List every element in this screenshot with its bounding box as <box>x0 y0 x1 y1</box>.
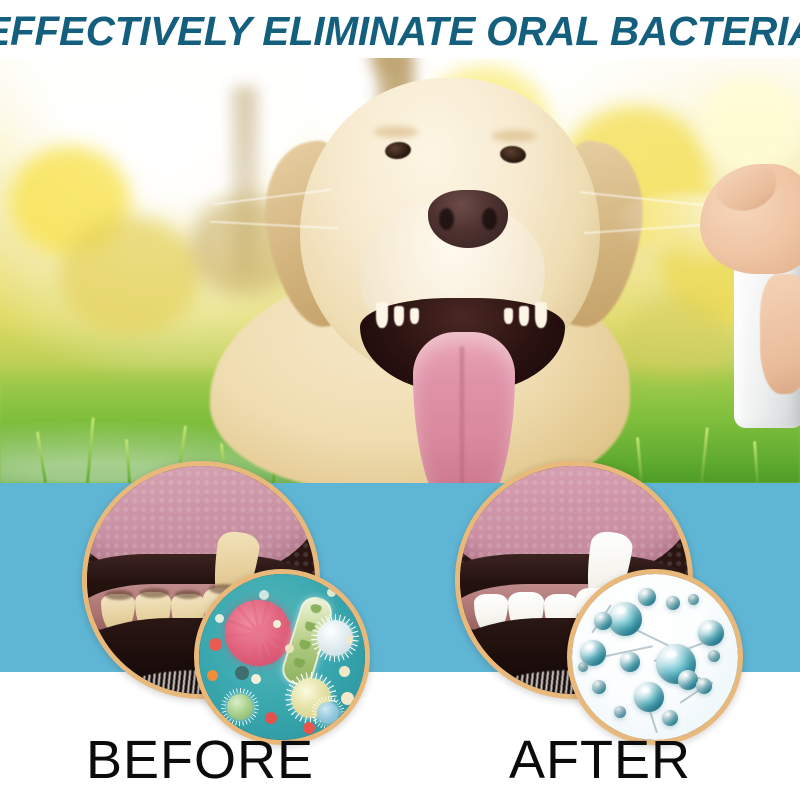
bokeh-spot <box>120 86 210 171</box>
caption-before: BEFORE <box>0 733 400 787</box>
microbe <box>259 590 269 600</box>
molecule-atom <box>678 670 698 690</box>
hero-photo <box>0 46 800 483</box>
molecule-atom <box>578 662 588 672</box>
microbe <box>215 614 224 623</box>
molecule-atom <box>608 602 642 636</box>
microbe <box>235 666 249 680</box>
molecule-atom <box>614 706 626 718</box>
microbe <box>345 636 353 644</box>
bokeh-spot <box>60 216 200 336</box>
molecule-atom <box>594 612 612 630</box>
microbe <box>207 670 218 681</box>
microbe <box>339 666 350 677</box>
microbe <box>327 588 336 597</box>
page-title: EFFECTIVELY ELIMINATE ORAL BACTERIA <box>0 11 800 52</box>
thumb <box>760 274 800 394</box>
molecule-atom <box>638 588 656 606</box>
microbe <box>341 692 354 705</box>
corona-virus-green <box>227 694 253 720</box>
before-bacteria-inset <box>194 569 370 745</box>
molecule-atom <box>662 710 678 726</box>
product-poster: BEFORE AFTER EFFECTIVELY ELIMINATE ORAL … <box>0 0 800 800</box>
microbe <box>265 712 277 724</box>
headline-bar: EFFECTIVELY ELIMINATE ORAL BACTERIA <box>0 0 800 58</box>
dog-brow-right <box>492 130 536 142</box>
bokeh-spot <box>700 76 800 171</box>
molecule-atom <box>708 650 720 662</box>
dog-tongue-crease <box>460 346 464 483</box>
dog-brow-left <box>374 126 418 138</box>
microbe <box>273 620 281 628</box>
microbe <box>285 644 294 653</box>
molecule-atom <box>688 594 699 605</box>
microbe <box>209 638 222 651</box>
molecule-atom <box>620 652 640 672</box>
molecule-atom <box>634 682 664 712</box>
microbe <box>251 674 261 684</box>
dog-tongue <box>413 332 515 483</box>
molecule-atom <box>592 680 606 694</box>
molecule-atom <box>696 678 712 694</box>
corona-virus-blue <box>317 702 339 724</box>
spiky-virus-pink <box>225 600 291 666</box>
caption-after: AFTER <box>400 733 800 787</box>
molecule-atom <box>666 596 680 610</box>
after-molecule-inset <box>567 569 743 745</box>
molecule-atom <box>698 620 724 646</box>
